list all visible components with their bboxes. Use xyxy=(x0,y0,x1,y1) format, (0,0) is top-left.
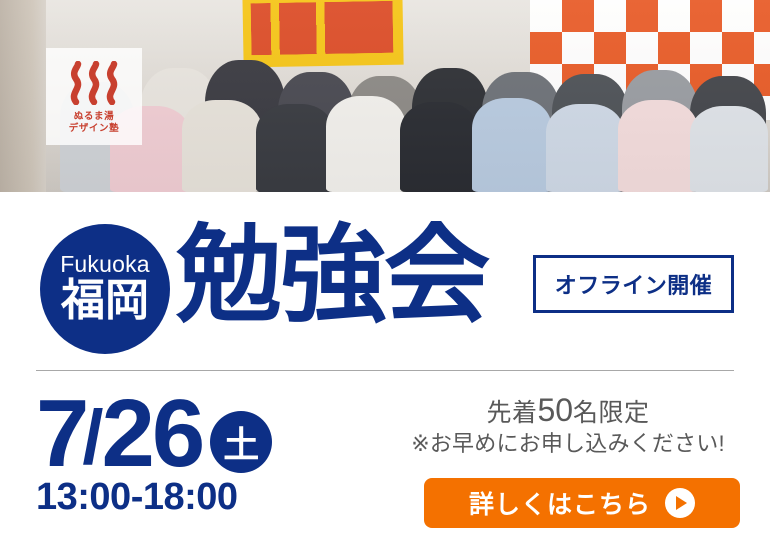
play-arrow-icon xyxy=(665,488,695,518)
brand-logo: ぬるま湯 デザイン塾 xyxy=(46,48,142,145)
event-date: 7 / 26 土 xyxy=(36,388,366,480)
city-badge: Fukuoka 福岡 xyxy=(40,224,170,354)
details-button-label: 詳しくはこちら xyxy=(469,485,651,521)
page-title: 勉強会 xyxy=(176,220,488,332)
application-notice: ※お早めにお申し込みください! xyxy=(398,429,738,459)
city-name-english: Fukuoka xyxy=(60,252,150,277)
event-day: 26 xyxy=(102,388,203,480)
details-button[interactable]: 詳しくはこちら xyxy=(424,478,740,528)
capacity-number: 50 xyxy=(537,392,573,428)
event-month: 7 xyxy=(36,388,86,480)
info-block: 先着50名限定 ※お早めにお申し込みください! xyxy=(398,394,738,459)
brand-logo-line2: デザイン塾 xyxy=(69,123,120,135)
capacity-prefix: 先着 xyxy=(486,399,537,427)
format-badge: オフライン開催 xyxy=(533,255,734,313)
brand-logo-text: ぬるま湯 デザイン塾 xyxy=(69,111,120,135)
event-banner: ぬるま湯 デザイン塾 Fukuoka 福岡 勉強会 オフライン開催 7 / 26… xyxy=(0,0,770,560)
hero-photo: ぬるま湯 デザイン塾 xyxy=(0,0,770,192)
schedule-block: 7 / 26 土 13:00-18:00 xyxy=(36,388,366,519)
city-name-japanese: 福岡 xyxy=(61,277,149,324)
day-of-week-badge: 土 xyxy=(210,411,272,473)
onsen-steam-icon xyxy=(66,61,122,105)
section-divider xyxy=(36,370,734,371)
brand-logo-line1: ぬるま湯 xyxy=(69,111,120,123)
capacity-suffix: 名限定 xyxy=(573,399,650,427)
date-separator: / xyxy=(82,392,103,484)
capacity-note: 先着50名限定 xyxy=(398,394,738,429)
